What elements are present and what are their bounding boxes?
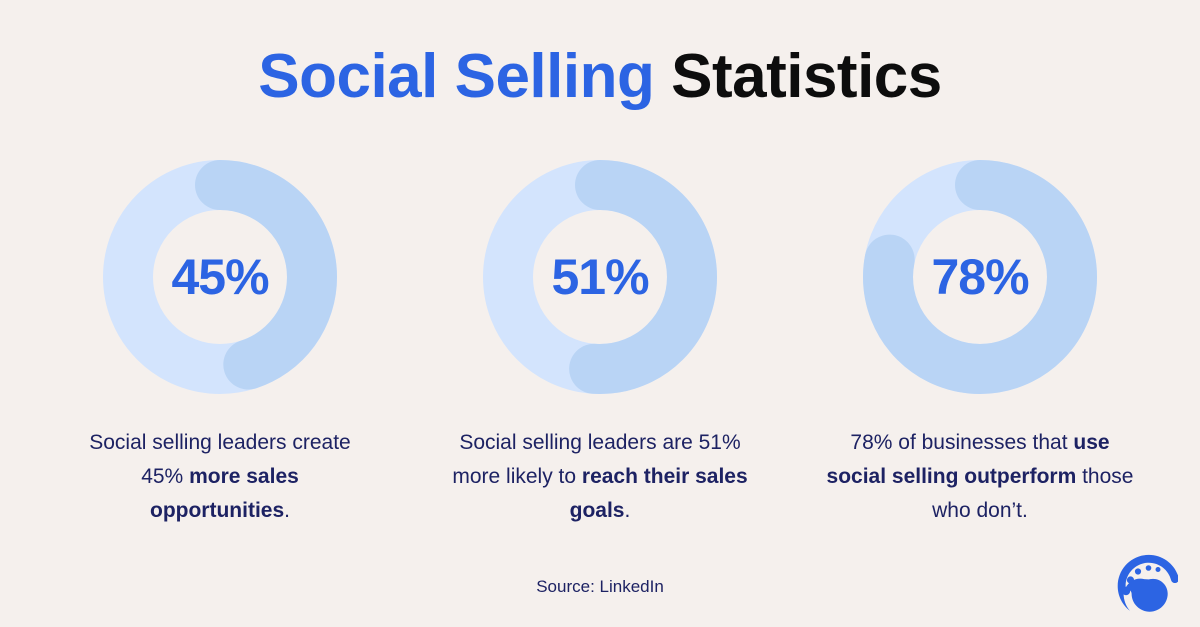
source-label: Source: LinkedIn — [0, 577, 1200, 597]
donut-value-1: 45% — [103, 160, 337, 394]
stats-row: 45% Social selling leaders create 45% mo… — [0, 160, 1200, 528]
stat-column-1: 45% Social selling leaders create 45% mo… — [30, 160, 410, 528]
stat-column-2: 51% Social selling leaders are 51% more … — [410, 160, 790, 528]
spiral-tentacle-logo — [1104, 549, 1178, 615]
donut-value-3: 78% — [863, 160, 1097, 394]
page-title: Social Selling Statistics — [0, 44, 1200, 109]
infographic-canvas: Social Selling Statistics 45% Social sel… — [0, 0, 1200, 627]
stat-column-3: 78% 78% of businesses that use social se… — [790, 160, 1170, 528]
title-plain-text: Statistics — [671, 42, 942, 111]
title-accent-text: Social Selling — [258, 42, 654, 111]
donut-chart-45: 45% — [103, 160, 337, 394]
donut-chart-78: 78% — [863, 160, 1097, 394]
stat-caption-1: Social selling leaders create 45% more s… — [70, 426, 370, 528]
donut-value-2: 51% — [483, 160, 717, 394]
stat-caption-2: Social selling leaders are 51% more like… — [450, 426, 750, 528]
stat-caption-3: 78% of businesses that use social sellin… — [820, 426, 1140, 528]
title-block: Social Selling Statistics — [0, 44, 1200, 109]
donut-chart-51: 51% — [483, 160, 717, 394]
